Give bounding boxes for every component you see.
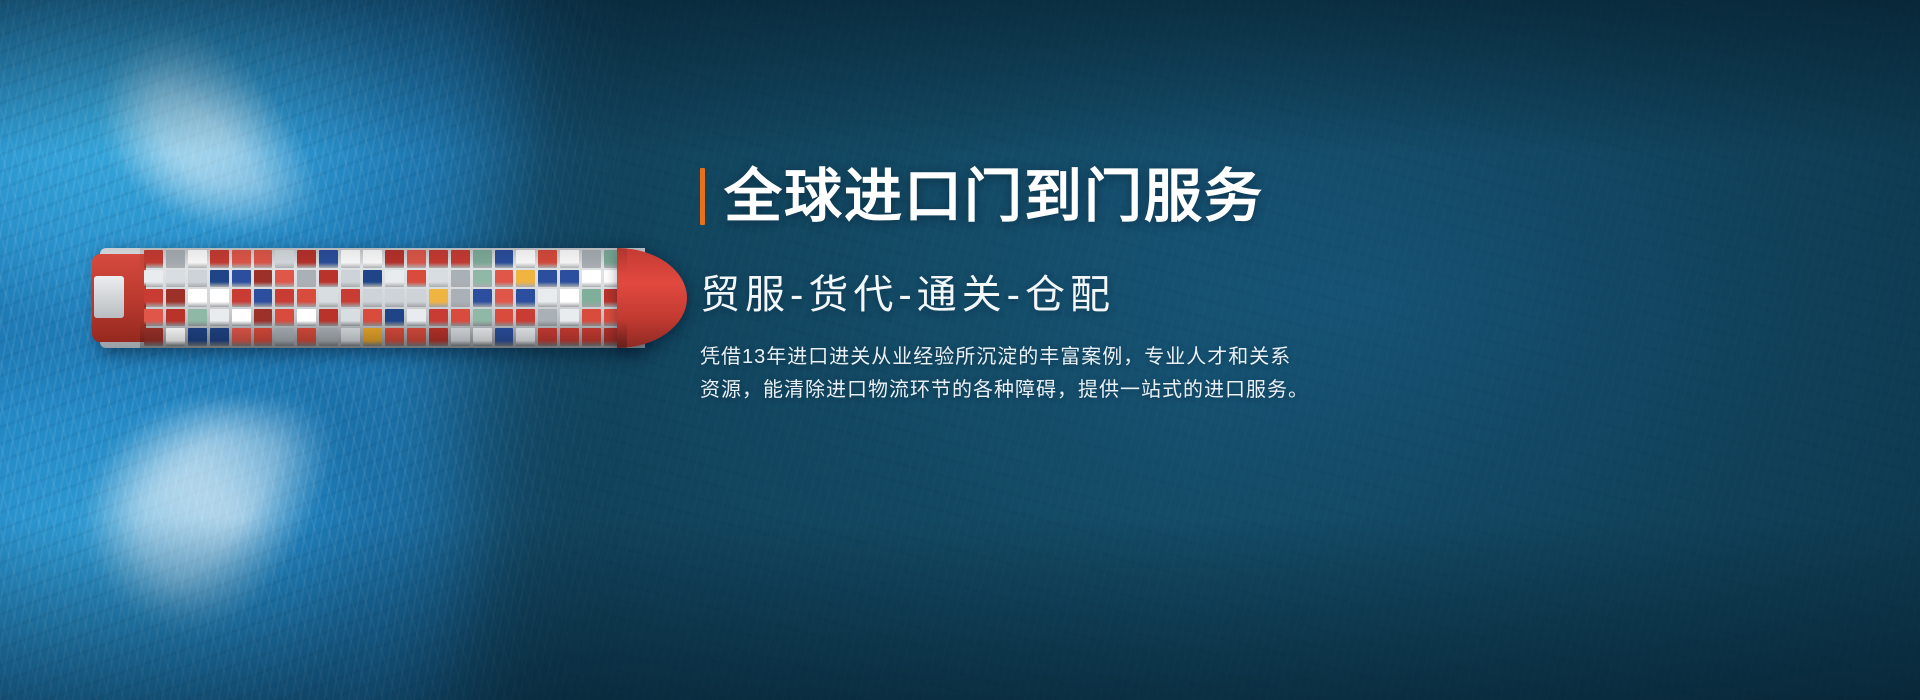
hero-text-block: 全球进口门到门服务 贸服-货代-通关-仓配 凭借13年进口进关从业经验所沉淀的丰… <box>700 163 1460 407</box>
title-row: 全球进口门到门服务 <box>700 163 1460 231</box>
description-block: 凭借13年进口进关从业经验所沉淀的丰富案例，专业人才和关系 资源，能清除进口物流… <box>700 341 1400 407</box>
page-title: 全球进口门到门服务 <box>724 163 1264 231</box>
description-line-1: 凭借13年进口进关从业经验所沉淀的丰富案例，专业人才和关系 <box>700 341 1400 374</box>
description-line-2: 资源，能清除进口物流环节的各种障碍，提供一站式的进口服务。 <box>700 374 1400 407</box>
hero-banner: 全球进口门到门服务 贸服-货代-通关-仓配 凭借13年进口进关从业经验所沉淀的丰… <box>0 0 1920 700</box>
page-subtitle: 贸服-货代-通关-仓配 <box>700 269 1460 321</box>
accent-bar-icon <box>700 168 705 225</box>
